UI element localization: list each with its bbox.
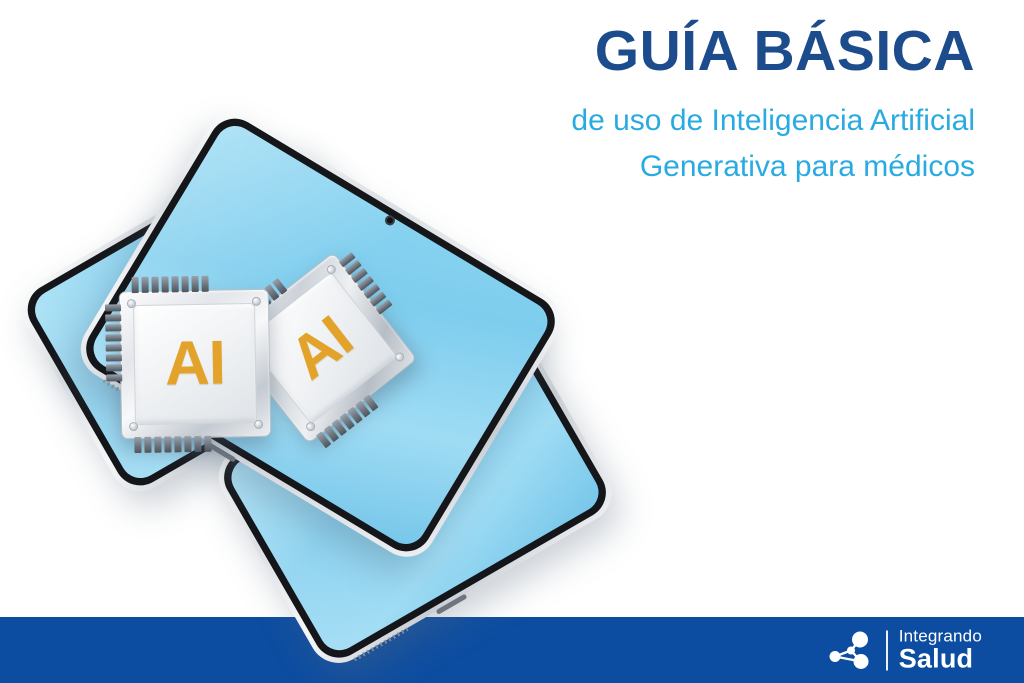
subtitle-line-1: de uso de Inteligencia Artificial xyxy=(335,100,975,143)
chip-pins-top xyxy=(131,276,208,293)
logo-divider xyxy=(886,630,888,670)
chip-label: AI xyxy=(280,307,363,390)
chip-pins-left xyxy=(105,304,122,381)
network-nodes-icon xyxy=(827,628,875,672)
chip-label: AI xyxy=(164,332,225,395)
hero-stage: AI AI xyxy=(0,150,600,620)
chip-pins-bottom xyxy=(134,436,211,453)
page-title: GUÍA BÁSICA xyxy=(335,22,975,82)
logo-wordmark: Integrando Salud xyxy=(899,628,982,673)
logo-name-bottom: Salud xyxy=(899,646,982,673)
hero-illustration: AI AI xyxy=(0,150,600,620)
logo-name-top: Integrando xyxy=(899,628,982,645)
ai-chip-front-left: AI xyxy=(119,289,272,440)
chip-face: AI xyxy=(133,303,257,425)
cover-page: GUÍA BÁSICA de uso de Inteligencia Artif… xyxy=(0,0,1024,683)
brand-logo: Integrando Salud xyxy=(827,628,982,673)
footer-band: Integrando Salud xyxy=(0,617,1024,683)
